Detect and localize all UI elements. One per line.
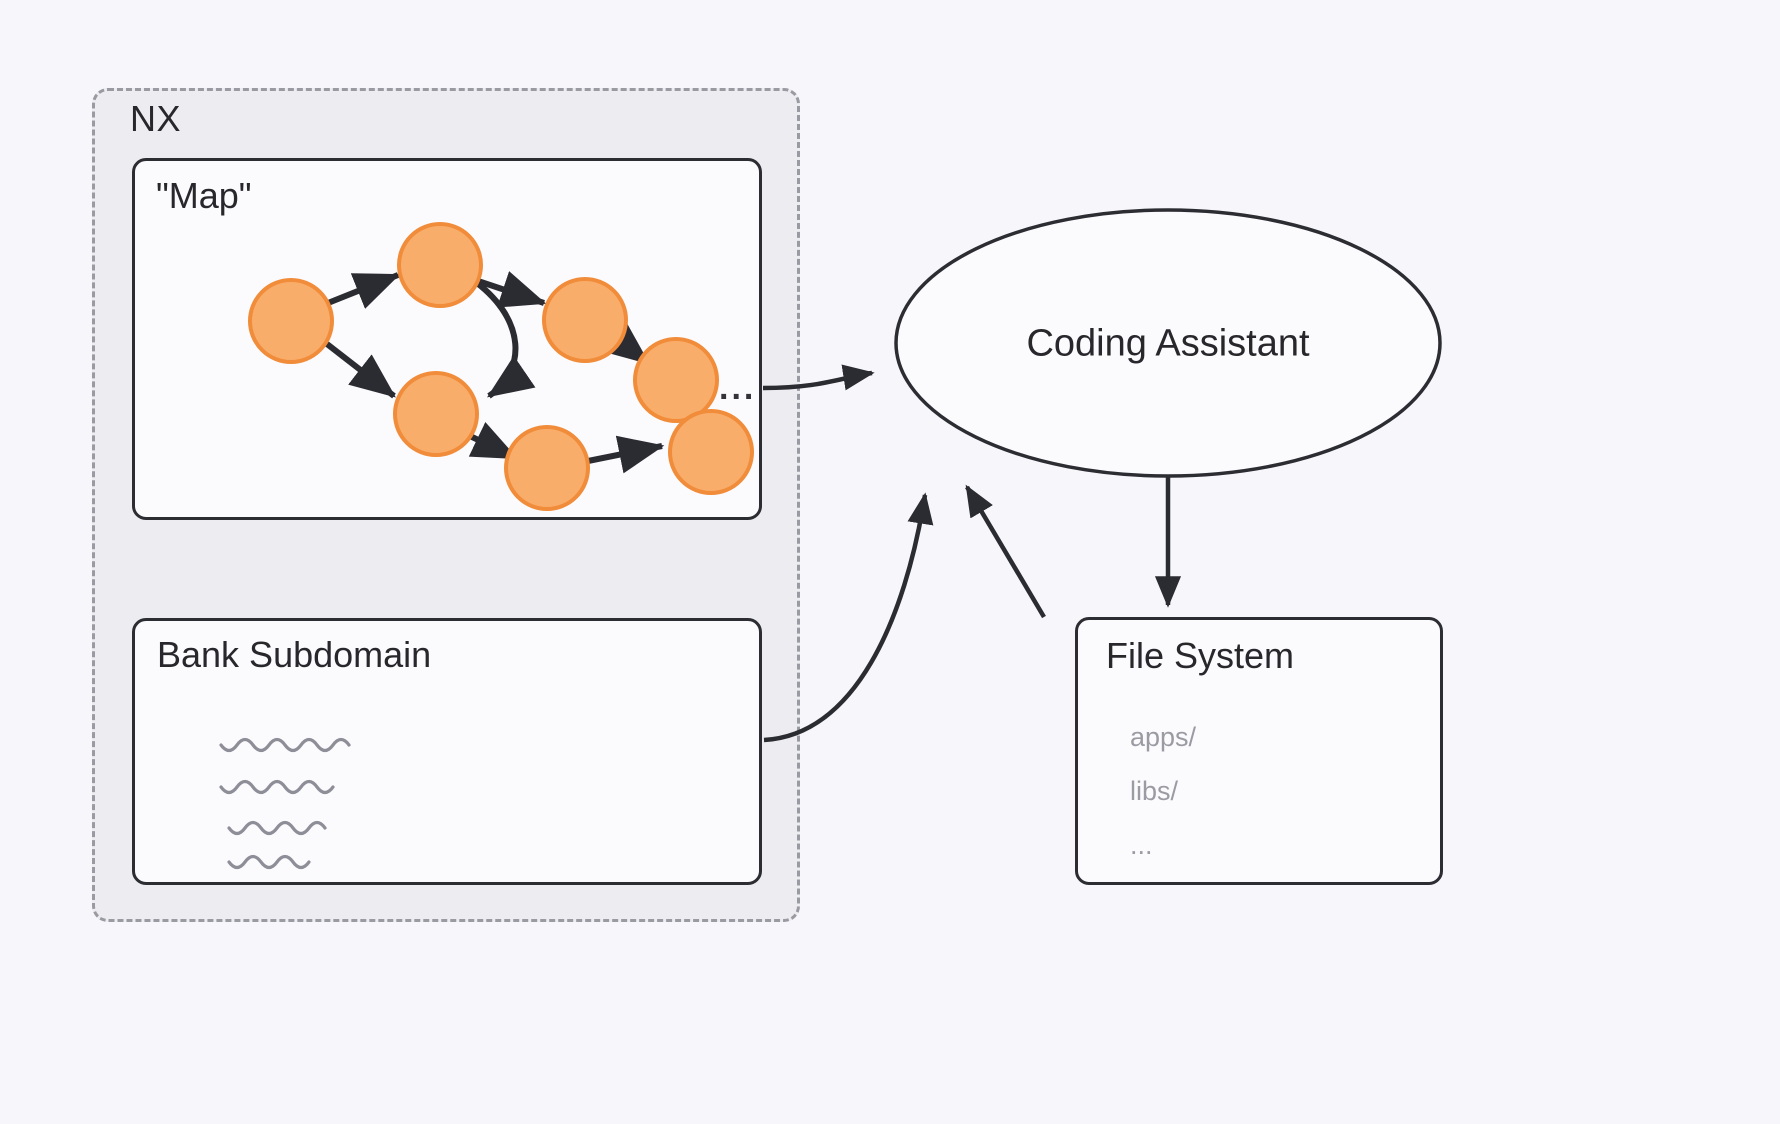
graph-edge xyxy=(588,446,662,461)
graph-node[interactable] xyxy=(506,427,588,509)
coding-assistant-label: Coding Assistant xyxy=(1026,323,1309,366)
graph-nodes xyxy=(250,224,752,509)
graph-ellipsis-label: ... xyxy=(719,369,756,408)
graph-node[interactable] xyxy=(670,411,752,493)
squiggle-line xyxy=(229,823,325,834)
squiggle-line xyxy=(221,740,349,751)
graph-node[interactable] xyxy=(250,280,332,362)
arrow-bank-to-assistant xyxy=(764,495,925,740)
squiggle-line xyxy=(221,782,333,793)
graph-node[interactable] xyxy=(544,279,626,361)
arrow-external-to-assistant xyxy=(967,487,1044,617)
graph-edge xyxy=(327,344,394,396)
arrow-map-to-assistant xyxy=(763,373,872,388)
graph-node[interactable] xyxy=(395,373,477,455)
graph-edge xyxy=(328,275,398,303)
vector-layer xyxy=(0,0,1780,1124)
graph-node[interactable] xyxy=(635,339,717,421)
graph-node[interactable] xyxy=(399,224,481,306)
diagram-canvas: NX "Map" Bank Subdomain File System apps… xyxy=(0,0,1780,1124)
bank-squiggle-lines xyxy=(221,740,349,868)
squiggle-line xyxy=(229,857,309,868)
graph-edge-curved xyxy=(477,283,515,396)
